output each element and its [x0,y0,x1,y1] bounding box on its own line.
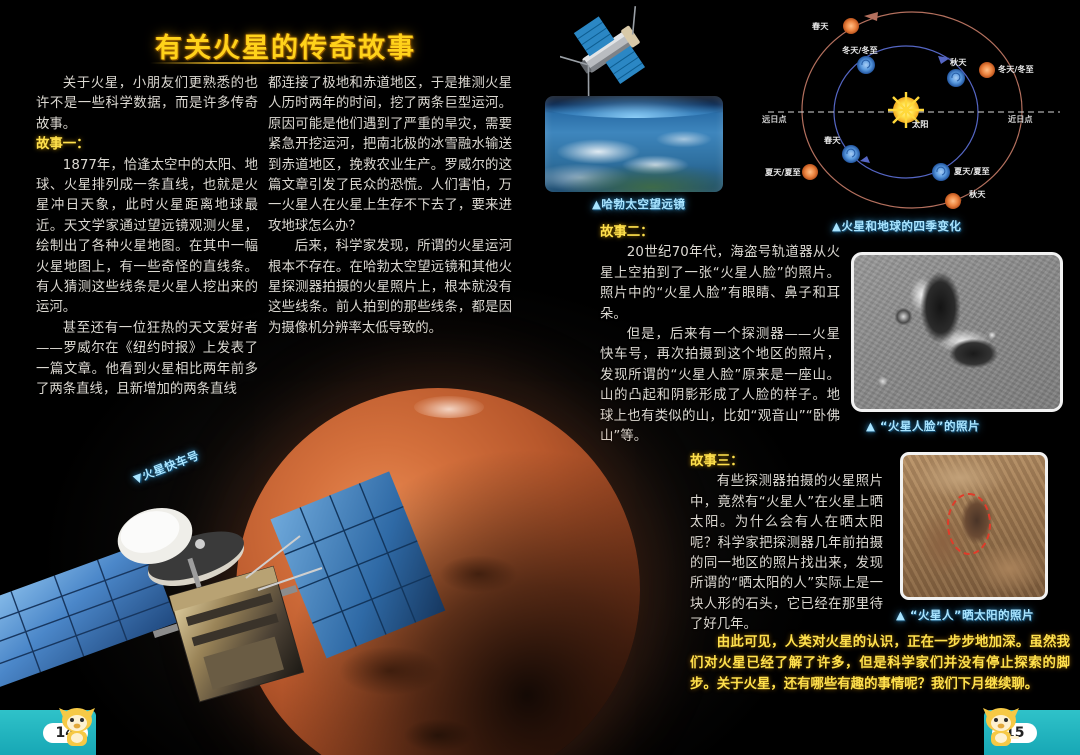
mascot-left [56,705,98,749]
orbit-label-mars-summer: 夏天/夏至 [765,166,801,178]
caption-orbit-diagram: ▲火星和地球的四季变化 [832,218,961,234]
mars-express-probe-illustration [0,440,470,730]
story-heading-3: 故事三： [690,452,883,472]
paragraph: 1877年，恰逢太空中的太阳、地球、火星排列成一条直线，也就是火星冲日天象，此时… [36,156,258,319]
page-title: 有关火星的传奇故事 [155,26,416,65]
story-heading-2: 故事二： [600,223,840,243]
caption-mars-man: ▲ “火星人”晒太阳的照片 [896,607,1034,623]
orbit-label-sun: 太阳 [912,118,928,130]
article-column-3: 故事二： 20世纪70年代，海盗号轨道器从火星上空拍到了一张“火星人脸”的照片。… [600,223,840,447]
orbit-label-aphelion: 远日点 [762,113,787,125]
paragraph: 都连接了极地和赤道地区，于是推测火星人历时两年的时间，挖了两条巨型运河。原因可能… [268,74,512,237]
article-column-1: 关于火星，小朋友们更熟悉的也许不是一些科学数据，而是许多传奇故事。 故事一： 1… [36,74,258,401]
paragraph: 甚至还有一位狂热的天文爱好者——罗威尔在《纽约时报》上发表了一篇文章。他看到火星… [36,319,258,401]
paragraph: 后来，科学家发现，所谓的火星运河根本不存在。在哈勃太空望远镜和其他火星探测器拍摄… [268,237,512,339]
orbit-label-earth-winter: 冬天/冬至 [842,44,878,56]
orbit-label-perihelion: 近日点 [1008,113,1033,125]
caption-mars-face: ▲ “火星人脸”的照片 [866,418,980,434]
article-column-4: 故事三： 有些探测器拍摄的火星照片中，竟然有“火星人”在火星上晒太阳。为什么会有… [690,452,883,636]
article-column-2: 都连接了极地和赤道地区，于是推测火星人历时两年的时间，挖了两条巨型运河。原因可能… [268,74,512,339]
mars-face-photo [851,252,1063,412]
orbit-label-earth-autumn: 秋天 [950,56,966,68]
mascot-right [980,705,1022,749]
paragraph: 有些探测器拍摄的火星照片中，竟然有“火星人”在火星上晒太阳。为什么会有人在晒太阳… [690,472,883,635]
orbit-seasons-diagram: 春天 冬天/冬至 夏天/夏至 秋天 冬天/冬至 秋天 春天 夏天/夏至 太阳 远… [760,0,1080,215]
orbit-label-mars-autumn: 秋天 [969,188,985,200]
paragraph: 但是，后来有一个探测器——火星快车号，再次拍摄到这个地区的照片，发现所谓的“火星… [600,325,840,447]
orbit-label-earth-spring: 春天 [824,134,840,146]
title-underline [150,62,365,64]
article-summary: 由此可见，人类对火星的认识，正在一步步地加深。虽然我们对火星已经了解了许多，但是… [690,632,1070,695]
paragraph: 20世纪70年代，海盗号轨道器从火星上空拍到了一张“火星人脸”的照片。照片中的“… [600,243,840,325]
paragraph: 关于火星，小朋友们更熟悉的也许不是一些科学数据，而是许多传奇故事。 [36,74,258,135]
caption-hubble: ▲哈勃太空望远镜 [592,196,685,212]
hubble-telescope-illustration [560,6,660,96]
mars-man-rock-photo [900,452,1048,600]
orbit-label-earth-summer: 夏天/夏至 [954,165,990,177]
highlight-circle [947,493,991,555]
earth-from-orbit-photo [545,96,723,192]
mars-polar-cap [414,396,484,418]
story-heading-1: 故事一： [36,135,258,155]
orbit-label-mars-winter: 冬天/冬至 [998,63,1034,75]
magazine-spread: 有关火星的传奇故事 关于火星，小朋友们更熟悉的也许不是一些科学数据，而是许多传奇… [0,0,1080,755]
orbit-label-mars-spring: 春天 [812,20,828,32]
earth-limb [545,96,723,118]
